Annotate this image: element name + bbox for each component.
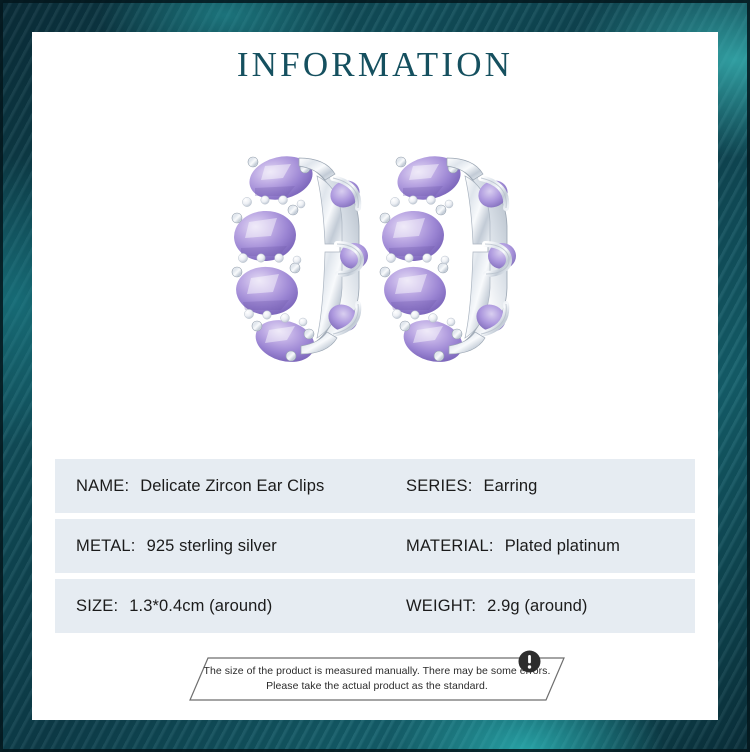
content-canvas: INFORMATION [32, 32, 718, 720]
page-title: INFORMATION [32, 45, 718, 85]
spec-label: NAME: [76, 477, 129, 496]
spec-label: MATERIAL: [406, 537, 494, 556]
table-row: NAME: Delicate Zircon Ear Clips SERIES: … [55, 459, 695, 513]
table-row: SIZE: 1.3*0.4cm (around) WEIGHT: 2.9g (a… [55, 579, 695, 633]
spec-cell-metal: METAL: 925 sterling silver [55, 537, 400, 556]
earring-right [373, 148, 521, 363]
earring-left [225, 148, 373, 363]
spec-label: SERIES: [406, 477, 473, 496]
table-row: METAL: 925 sterling silver MATERIAL: Pla… [55, 519, 695, 573]
earring-right-graphic [373, 148, 521, 363]
spec-value: Delicate Zircon Ear Clips [140, 477, 324, 496]
spec-value: 925 sterling silver [147, 537, 277, 556]
spec-cell-material: MATERIAL: Plated platinum [400, 537, 695, 556]
spec-value: Earring [484, 477, 538, 496]
disclaimer-banner: The size of the product is measured manu… [182, 650, 572, 708]
spec-value: 1.3*0.4cm (around) [129, 597, 272, 616]
spec-cell-size: SIZE: 1.3*0.4cm (around) [55, 597, 400, 616]
spec-value: 2.9g (around) [487, 597, 587, 616]
spec-label: SIZE: [76, 597, 118, 616]
disclaimer-line-2: Please take the actual product as the st… [182, 679, 572, 694]
disclaimer-text: The size of the product is measured manu… [182, 664, 572, 693]
spec-table: NAME: Delicate Zircon Ear Clips SERIES: … [55, 459, 695, 639]
spec-cell-weight: WEIGHT: 2.9g (around) [400, 597, 695, 616]
product-image [215, 132, 535, 422]
spec-label: WEIGHT: [406, 597, 476, 616]
disclaimer-line-1: The size of the product is measured manu… [182, 664, 572, 679]
spec-label: METAL: [76, 537, 136, 556]
spec-value: Plated platinum [505, 537, 620, 556]
spec-cell-series: SERIES: Earring [400, 477, 695, 496]
poster: INFORMATION [0, 0, 750, 752]
spec-cell-name: NAME: Delicate Zircon Ear Clips [55, 477, 400, 496]
earring-left-graphic [225, 148, 373, 363]
